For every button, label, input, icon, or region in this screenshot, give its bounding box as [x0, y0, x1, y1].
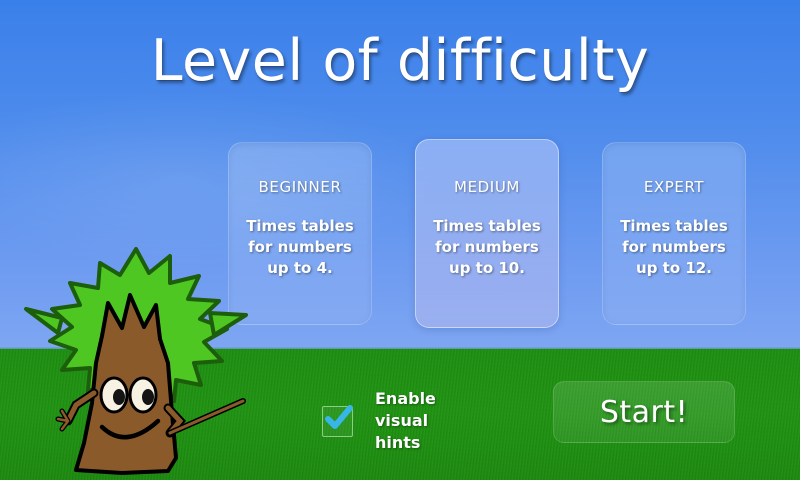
page-title: Level of difficulty	[0, 28, 800, 94]
difficulty-card-title: EXPERT	[603, 178, 745, 196]
visual-hints-checkbox[interactable]	[322, 406, 353, 437]
difficulty-card-title: MEDIUM	[416, 178, 558, 196]
start-button-label: Start!	[600, 395, 688, 430]
difficulty-card-description: Times tablesfor numbersup to 4.	[235, 216, 365, 279]
enable-visual-hints-row[interactable]: Enable visualhints	[322, 388, 490, 454]
difficulty-card-description: Times tablesfor numbersup to 10.	[422, 216, 552, 279]
tree-mascot-icon	[18, 243, 253, 480]
difficulty-card-description: Times tablesfor numbersup to 12.	[609, 216, 739, 279]
check-icon	[320, 400, 356, 436]
start-button[interactable]: Start!	[553, 381, 735, 443]
difficulty-card-medium[interactable]: MEDIUM Times tablesfor numbersup to 10.	[415, 139, 559, 328]
tree-mascot	[18, 243, 253, 480]
difficulty-screen: Level of difficulty BEGINNER Times table…	[0, 0, 800, 480]
difficulty-card-title: BEGINNER	[229, 178, 371, 196]
difficulty-card-expert[interactable]: EXPERT Times tablesfor numbersup to 12.	[602, 142, 746, 325]
difficulty-options: BEGINNER Times tablesfor numbersup to 4.…	[228, 139, 746, 329]
visual-hints-label: Enable visualhints	[375, 388, 490, 454]
